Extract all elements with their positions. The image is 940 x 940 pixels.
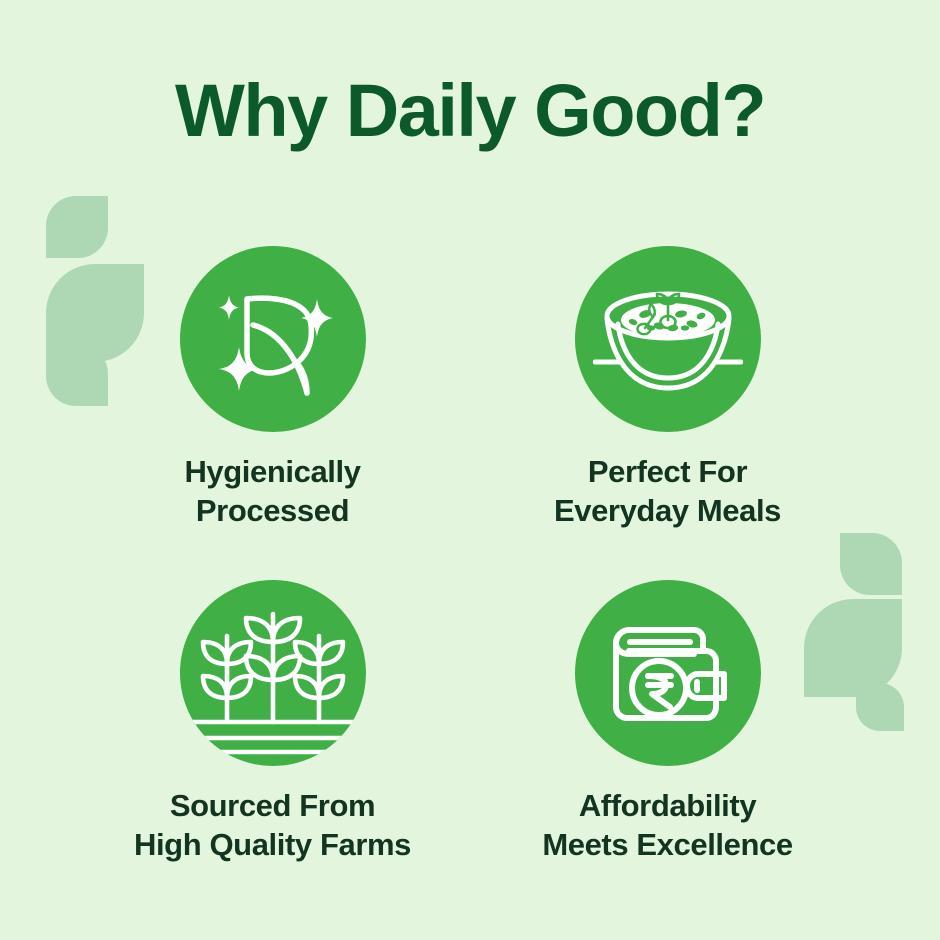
feature-label: Hygienically Processed	[184, 452, 360, 530]
feature-label-line: High Quality Farms	[134, 825, 411, 864]
feature-label-line: Everyday Meals	[554, 491, 781, 530]
feature-card-perfect-for-everyday-meals[interactable]: Perfect For Everyday Meals	[545, 246, 790, 530]
feature-label-line: Sourced From	[134, 786, 411, 825]
why-daily-good-poster: Why Daily Good?	[0, 0, 940, 940]
feature-label-line: Meets Excellence	[542, 825, 792, 864]
feature-label: Sourced From High Quality Farms	[134, 786, 411, 864]
features-row: Sourced From High Quality Farms	[150, 580, 790, 864]
feature-label-line: Perfect For	[554, 452, 781, 491]
feature-card-affordability-meets-excellence[interactable]: Affordability Meets Excellence	[545, 580, 790, 864]
soup-bowl-icon	[593, 264, 743, 414]
feature-label: Perfect For Everyday Meals	[554, 452, 781, 530]
feature-card-hygienically-processed[interactable]: Hygienically Processed	[150, 246, 395, 530]
feature-icon-circle	[180, 580, 366, 766]
feature-card-sourced-from-high-quality-farms[interactable]: Sourced From High Quality Farms	[150, 580, 395, 864]
decorative-leaf-icon	[856, 683, 904, 731]
feature-label: Affordability Meets Excellence	[542, 786, 792, 864]
decorative-leaf-cluster-right	[800, 533, 930, 745]
feature-label-line: Affordability	[542, 786, 792, 825]
features-row: Hygienically Processed	[150, 246, 790, 530]
decorative-leaf-icon	[46, 344, 108, 406]
decorative-leaf-icon	[46, 196, 108, 258]
feature-label-line: Hygienically	[184, 452, 360, 491]
feature-icon-circle	[180, 246, 366, 432]
page-title: Why Daily Good?	[0, 72, 940, 150]
feature-label-line: Processed	[184, 491, 360, 530]
decorative-leaf-icon	[804, 599, 902, 697]
crop-field-icon	[180, 580, 366, 766]
wallet-rupee-icon	[598, 603, 738, 743]
feature-icon-circle	[575, 246, 761, 432]
leaf-sparkle-icon	[203, 269, 343, 409]
decorative-leaf-icon	[840, 533, 902, 595]
features-grid: Hygienically Processed	[150, 246, 790, 864]
feature-icon-circle	[575, 580, 761, 766]
